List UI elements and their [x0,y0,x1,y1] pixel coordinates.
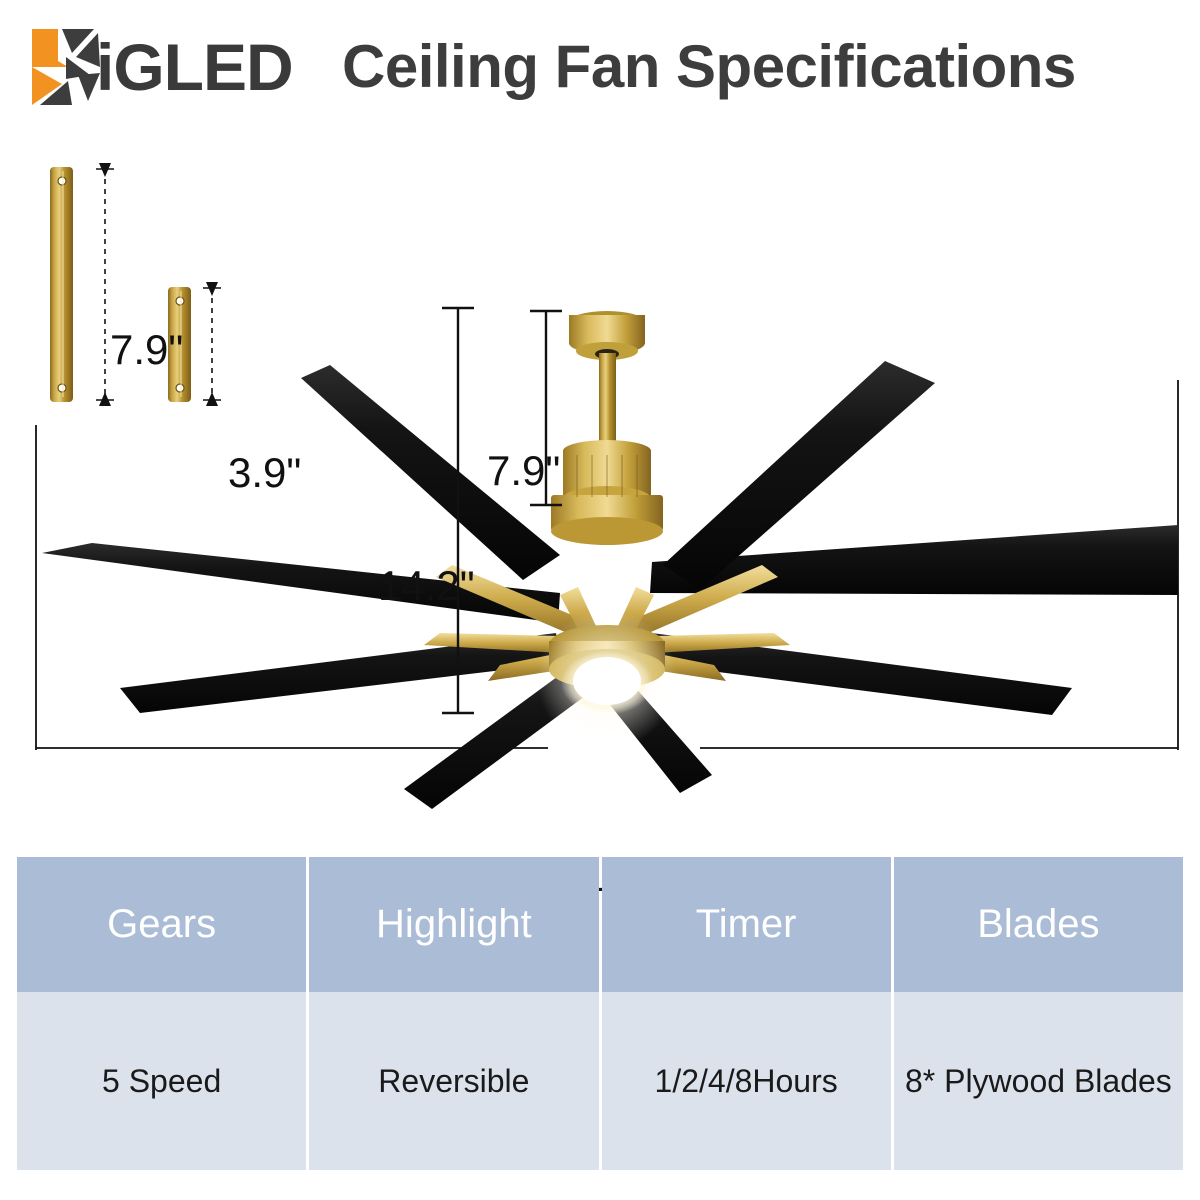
column-header-gears: Gears [17,857,306,992]
cell-blades: 8* Plywood Blades [894,992,1183,1170]
column-header-timer: Timer [602,857,891,992]
dim-label-canopy-drop: 7.9" [487,447,560,495]
dim-label-total-height: 14.2" [378,562,475,610]
column-header-blades: Blades [894,857,1183,992]
table-row: 5 Speed Reversible 1/2/4/8Hours 8* Plywo… [17,992,1183,1170]
specifications-table: Gears Highlight Timer Blades 5 Speed Rev… [14,857,1186,1170]
column-header-highlight: Highlight [309,857,598,992]
dim-line-downrod-short [203,288,221,400]
fan-light-kit [537,609,677,749]
cell-gears: 5 Speed [17,992,306,1170]
cell-timer: 1/2/4/8Hours [602,992,891,1170]
table-header-row: Gears Highlight Timer Blades [17,857,1183,992]
fan-downrod [599,353,616,448]
fan-motor-housing [551,440,663,545]
page-header: iGLED Ceiling Fan Specifications [0,0,1200,125]
logo-wordmark: iGLED [96,32,293,102]
fan-canopy [569,311,645,360]
downrod-long [50,167,73,402]
dim-label-downrod-short: 3.9" [228,449,301,497]
cell-highlight: Reversible [309,992,598,1170]
page-title: Ceiling Fan Specifications [342,31,1076,103]
fan-dimension-diagram: 7.9" 3.9" 7.9" 14.2" 71.7" [0,125,1200,840]
shutter-aperture-logo [28,27,104,107]
dim-label-downrod-long: 7.9" [110,326,183,374]
